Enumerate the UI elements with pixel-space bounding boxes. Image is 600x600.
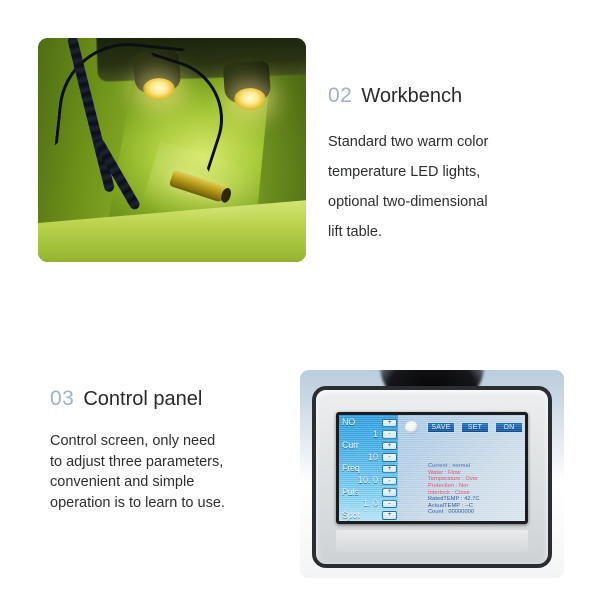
status-line: Temperature : Over xyxy=(428,476,520,483)
status-line: Protection : Nor xyxy=(428,483,520,490)
param-row-spot-label: Spot + xyxy=(339,510,398,521)
set-button[interactable]: SET xyxy=(461,422,489,433)
param-decrement-puls[interactable]: - xyxy=(382,500,397,509)
status-line: RatedTEMP : 42.7C xyxy=(428,496,520,503)
param-row-no-label: NO + xyxy=(339,417,398,429)
param-row-no-value: 1 - xyxy=(339,429,398,441)
control-panel-title: 03 Control panel xyxy=(50,387,290,411)
param-label-spot: Spot xyxy=(342,510,360,521)
control-panel-number: 03 xyxy=(50,387,74,411)
param-row-curr-value: 10 - xyxy=(339,452,398,464)
workbench-text-block: 02 Workbench Standard two warm color tem… xyxy=(328,84,568,247)
param-row-curr-label: Curr + xyxy=(339,440,398,452)
device-front-panel xyxy=(336,530,528,552)
workbench-body-line: lift table. xyxy=(328,217,568,247)
save-button[interactable]: SAVE xyxy=(427,422,455,433)
param-row-puls-value: 1. 0 - xyxy=(339,498,398,510)
param-label-freq: Freq xyxy=(342,463,360,475)
lcd-screen[interactable]: NO + 1 - Curr + 10 - xyxy=(339,415,525,521)
workbench-body-line: optional two-dimensional xyxy=(328,187,568,217)
control-panel-body-line: convenient and simple xyxy=(50,472,290,493)
param-label-curr: Curr xyxy=(342,440,359,452)
status-line: Current : normal xyxy=(428,463,520,470)
param-increment-puls[interactable]: + xyxy=(382,488,397,497)
param-increment-curr[interactable]: + xyxy=(382,442,397,451)
param-decrement-no[interactable]: - xyxy=(382,430,397,439)
status-line: Interlock : Close xyxy=(428,490,520,497)
lcd-status-readout: Current : normal Water : Flow Temperatur… xyxy=(428,463,520,516)
param-decrement-curr[interactable]: - xyxy=(382,453,397,462)
param-label-puls: Puls xyxy=(342,487,359,499)
workbench-title: 02 Workbench xyxy=(328,84,568,108)
param-increment-spot[interactable]: + xyxy=(382,511,397,520)
status-line: ActualTEMP : --C xyxy=(428,503,520,510)
power-on-button[interactable]: ON xyxy=(495,422,523,433)
param-value-freq: 10. 0 xyxy=(358,475,378,487)
screen-bezel: NO + 1 - Curr + 10 - xyxy=(336,412,528,524)
param-row-freq-label: Freq + xyxy=(339,463,398,475)
workbench-number: 02 xyxy=(328,84,352,108)
workbench-photo xyxy=(38,38,306,262)
control-panel-body-line: operation is to learn to use. xyxy=(50,493,290,514)
param-label-no: NO xyxy=(342,417,355,429)
control-panel-photo: NO + 1 - Curr + 10 - xyxy=(300,370,564,578)
param-row-freq-value: 10. 0 - xyxy=(339,475,398,487)
param-value-curr: 10 xyxy=(368,452,378,464)
param-row-puls-label: Puls + xyxy=(339,487,398,499)
control-panel-text-block: 03 Control panel Control screen, only ne… xyxy=(50,387,290,513)
control-panel-body: Control screen, only need to adjust thre… xyxy=(50,431,290,513)
page-root: 02 Workbench Standard two warm color tem… xyxy=(0,0,600,600)
led-lamp-glow-2 xyxy=(234,88,266,110)
status-line: Count : 00000000 xyxy=(428,509,520,516)
device-housing: NO + 1 - Curr + 10 - xyxy=(312,386,552,568)
param-decrement-freq[interactable]: - xyxy=(382,477,397,486)
workbench-body-line: temperature LED lights, xyxy=(328,157,568,187)
control-panel-body-line: Control screen, only need xyxy=(50,431,290,452)
workbench-heading: Workbench xyxy=(361,85,462,108)
lcd-toolbar: SAVE SET ON xyxy=(405,421,520,434)
param-value-no: 1 xyxy=(373,429,378,441)
workbench-photo-scene xyxy=(38,38,306,262)
param-increment-no[interactable]: + xyxy=(382,419,397,428)
workbench-body-line: Standard two warm color xyxy=(328,127,568,157)
param-value-puls: 1. 0 xyxy=(363,498,378,510)
workbench-body: Standard two warm color temperature LED … xyxy=(328,127,568,247)
status-line: Water : Flow xyxy=(428,470,520,477)
param-increment-freq[interactable]: + xyxy=(382,465,397,474)
control-panel-body-line: to adjust three parameters, xyxy=(50,452,290,473)
control-panel-heading: Control panel xyxy=(83,388,202,411)
dome-indicator-icon xyxy=(405,421,418,434)
parameter-rail: NO + 1 - Curr + 10 - xyxy=(339,415,398,521)
